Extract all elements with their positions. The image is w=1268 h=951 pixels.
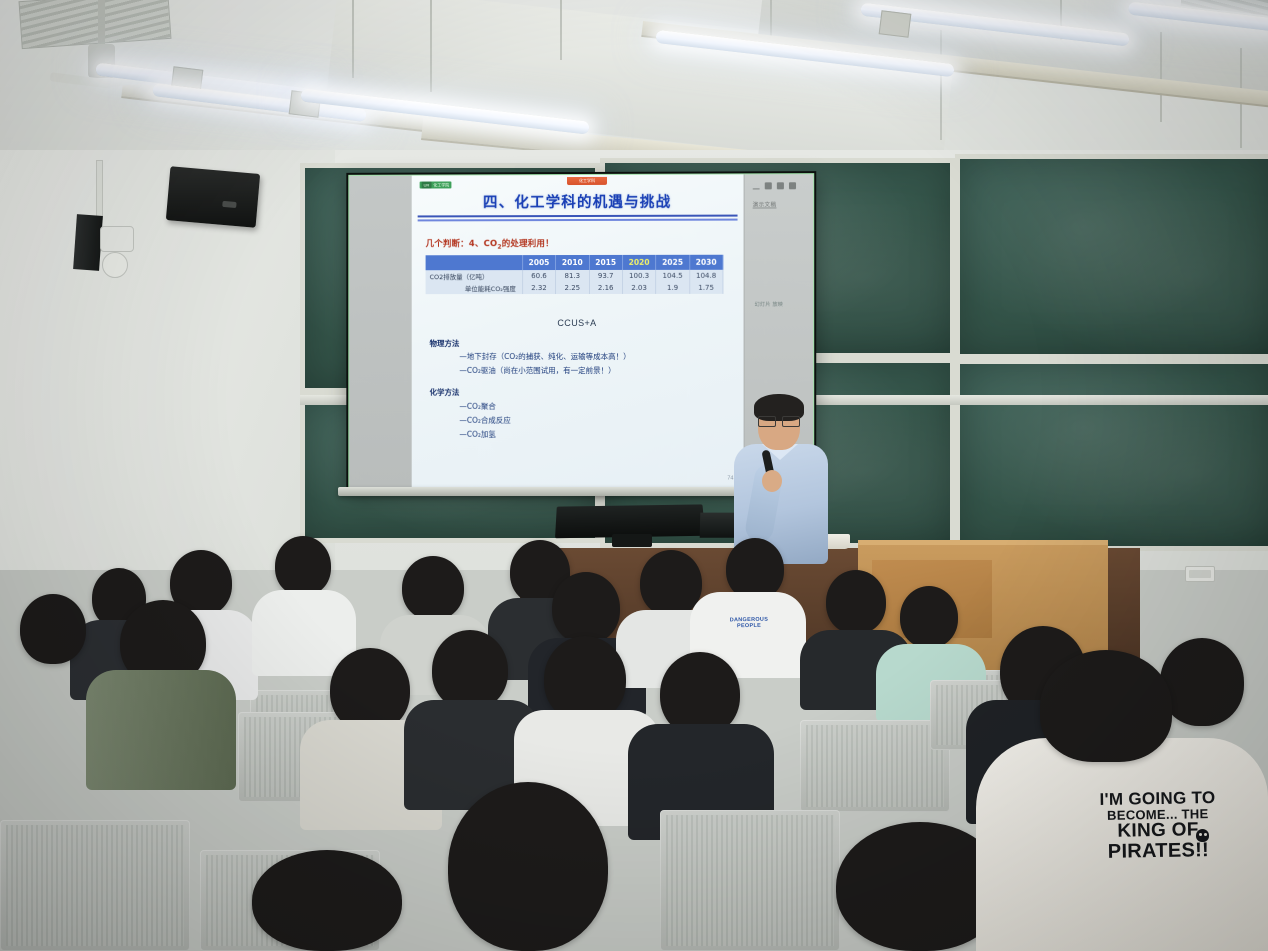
table-header-2010: 2010	[556, 255, 589, 270]
table-header-2030: 2030	[689, 255, 723, 270]
presenter-hand	[762, 470, 782, 492]
chalkboard-panel	[955, 154, 1268, 359]
slide-block-chemical-item-2: —CO₂合成反应	[459, 415, 510, 426]
restore-icon[interactable]	[765, 182, 772, 189]
lecture-hall-photo: UR 化工学院 化工学科 四、化工学科的机遇与挑战 几个判断：4、CO2的处理利…	[0, 0, 1268, 951]
camera-pole	[96, 160, 103, 220]
table-row: CO2排放量（亿吨） 60.6 81.3 93.7 100.3 104.5 10…	[426, 270, 723, 282]
ceiling-rod	[430, 0, 432, 92]
lamp-housing	[879, 10, 912, 37]
glasses-icon	[758, 416, 800, 425]
audience: DANGEROUS PEOPLE	[0, 520, 1268, 951]
student-head	[20, 594, 86, 664]
row-label-intensity: 单位能耗CO₂强度	[426, 282, 523, 294]
slide-block-chemical-item-3: —CO₂加氢	[459, 429, 495, 440]
slide-title: 四、化工学科的机遇与挑战	[412, 190, 744, 212]
skull-icon	[1196, 829, 1209, 842]
row-label-emissions: CO2排放量（亿吨）	[426, 270, 523, 282]
slide-block-chemical-item-1: —CO₂聚合	[459, 401, 495, 412]
panel-label-mid: 幻灯片 放映	[755, 301, 783, 308]
slide-badge-left-label: 化工学院	[433, 181, 449, 188]
slide-rule-secondary	[418, 219, 738, 221]
table-header-2020: 2020	[622, 255, 655, 270]
table-header-2015: 2015	[589, 255, 622, 270]
chair-front	[0, 820, 190, 951]
cell: 100.3	[622, 270, 655, 282]
cell: 2.32	[522, 282, 555, 294]
cell: 104.5	[656, 270, 689, 282]
table-header-row: 2005 2010 2015 2020 2025 2030	[426, 255, 723, 270]
ccus-label: CCUS+A	[412, 318, 744, 328]
menu-icon[interactable]	[789, 182, 796, 189]
slide-block-physical-heading: 物理方法	[430, 338, 460, 349]
cell: 104.8	[689, 270, 723, 282]
cell: 2.25	[556, 282, 589, 294]
ceiling-vent-icon	[19, 0, 172, 49]
student-head	[826, 570, 886, 634]
slide-badge-chip: UR	[422, 182, 432, 189]
ceiling-rod	[560, 0, 562, 60]
ceiling-rod	[1160, 32, 1162, 122]
slide-block-physical-item-1: —地下封存（CO₂的捕获、纯化、运输等成本高！）	[459, 351, 630, 362]
student-head	[275, 536, 331, 596]
student-head	[552, 572, 620, 644]
shirt-line-4: PIRATES!!	[1058, 840, 1258, 864]
slide-block-physical-item-2: —CO₂驱油（尚在小范围试用，有一定前景！）	[459, 365, 615, 376]
window-controls[interactable]	[753, 182, 796, 189]
minimize-icon[interactable]	[753, 188, 760, 189]
cell: 1.75	[689, 282, 723, 294]
shirt-text-pirates: I'M GOING TO BECOME... THE KING OF PIRAT…	[1057, 788, 1258, 864]
emissions-table: 2005 2010 2015 2020 2025 2030 CO2排放量（亿吨）…	[426, 255, 724, 294]
student-head	[402, 556, 464, 620]
table-header-2025: 2025	[656, 255, 689, 270]
student-head	[1160, 638, 1244, 726]
slide-divider	[418, 215, 738, 221]
cell: 81.3	[556, 270, 589, 282]
student-head	[726, 538, 784, 600]
ceiling-rod	[352, 0, 354, 78]
projector-left-panel	[349, 176, 411, 489]
student-head	[900, 586, 958, 648]
student-head	[640, 550, 702, 616]
slide-badge-left: UR 化工学院	[420, 181, 452, 188]
slide-subtitle: 几个判断：4、CO2的处理利用！	[426, 237, 554, 251]
ceiling-fan-rod	[98, 0, 105, 46]
student-head-foreground	[1040, 650, 1172, 762]
wall-speaker-icon	[166, 166, 260, 228]
student-head-foreground	[252, 850, 402, 951]
close-icon[interactable]	[777, 182, 784, 189]
chair-front	[660, 810, 840, 951]
chair-mid	[800, 720, 950, 812]
cell: 2.16	[589, 282, 622, 294]
panel-label-top: 演示文稿	[753, 200, 777, 208]
cell: 93.7	[589, 270, 622, 282]
table-header-blank	[426, 255, 523, 270]
table-header-2005: 2005	[522, 255, 555, 270]
subtitle-suffix: 的处理利用！	[502, 239, 554, 249]
camera-dome-icon	[102, 252, 128, 278]
cell: 2.03	[622, 282, 655, 294]
camera-lens-icon	[100, 226, 134, 252]
camera-body-icon	[73, 214, 103, 271]
slide-badge-right: 化工学科	[567, 177, 607, 185]
table-row: 单位能耗CO₂强度 2.32 2.25 2.16 2.03 1.9 1.75	[426, 282, 723, 294]
subtitle-prefix: 几个判断：4、CO	[426, 239, 498, 249]
ceiling-rod	[940, 30, 942, 140]
presentation-slide: UR 化工学院 化工学科 四、化工学科的机遇与挑战 几个判断：4、CO2的处理利…	[412, 174, 744, 489]
cell: 60.6	[522, 270, 555, 282]
shirt-text-dangerous: DANGEROUS PEOPLE	[706, 617, 792, 630]
slide-block-chemical-heading: 化学方法	[430, 387, 460, 398]
student-head	[432, 630, 508, 710]
student-body	[86, 670, 236, 790]
slide-rule-primary	[418, 215, 738, 218]
student-head-foreground	[448, 782, 608, 951]
cell: 1.9	[656, 282, 689, 294]
